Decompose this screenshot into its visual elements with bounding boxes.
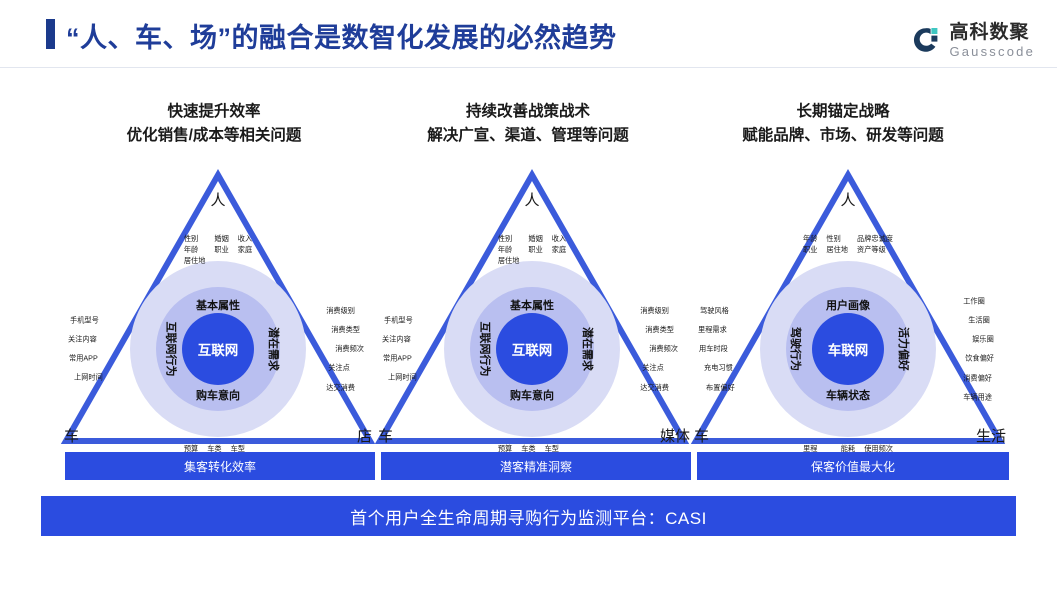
logo-name-cn: 高科数聚 [949, 23, 1035, 42]
rings-2-tags-left: 手机型号 关注内容 常用APP 上网时间 [382, 315, 417, 384]
column-heading-1: 快速提升效率 优化销售/成本等相关问题 [44, 100, 384, 148]
triangle-2-corner-left-label: 车 [378, 425, 393, 446]
tag: 居住地 [498, 255, 520, 266]
column-heading-2: 持续改善战策战术 解决广宣、渠道、管理等问题 [358, 100, 698, 148]
tag: 工作圈 [963, 296, 985, 307]
tag: 收入 [552, 233, 566, 244]
column-heading-3-line1: 长期锚定战略 [673, 100, 1013, 124]
rings-3: 车联网 用户画像 车辆状态 驾驶行为 活力偏好 年龄 性别 品牌忠诚度 职业 居… [760, 261, 936, 437]
outcome-bar-3: 保客价值最大化 [697, 452, 1009, 480]
gausscode-logo-icon [911, 25, 941, 55]
diagram-panel-3: 人 车 生活 车联网 用户画像 车辆状态 驾驶行为 活力偏好 年龄 性别 品牌忠… [688, 165, 1008, 450]
triangle-1-apex-label: 人 [58, 189, 378, 210]
outcome-bar-2: 潜客精准洞察 [381, 452, 691, 480]
tag: 居住地 [184, 255, 206, 266]
column-heading-2-line2: 解决广宣、渠道、管理等问题 [358, 124, 698, 148]
slide-root: “人、车、场”的融合是数智化发展的必然趋势 高科数聚 Gausscode 快速提… [0, 0, 1057, 589]
tag: 年龄 [803, 233, 817, 244]
triangle-1-corner-left-label: 车 [64, 425, 79, 446]
tag: 饮食偏好 [965, 353, 994, 364]
rings-2-section-right: 潜在需求 [580, 327, 596, 371]
tag: 上网时间 [388, 372, 417, 383]
triangle-3-apex-label: 人 [688, 189, 1008, 210]
rings-2-section-bottom: 购车意向 [510, 387, 554, 403]
tag: 职业 [803, 244, 817, 255]
rings-3-tags-top: 年龄 性别 品牌忠诚度 职业 居住地 资产等级 [803, 233, 893, 255]
column-heading-2-line1: 持续改善战策战术 [358, 100, 698, 124]
rings-2: 互联网 基本属性 购车意向 互联网行为 潜在需求 性别 婚姻 收入 年龄 职业 … [444, 261, 620, 437]
rings-2-section-top: 基本属性 [510, 297, 554, 313]
rings-3-section-bottom: 车辆状态 [826, 387, 870, 403]
tag: 充电习惯 [704, 363, 733, 374]
tag: 家庭 [238, 244, 252, 255]
tag: 里程需求 [698, 324, 727, 335]
tag: 婚姻 [528, 233, 542, 244]
tag: 生活圈 [968, 315, 990, 326]
rings-1-section-right: 潜在需求 [266, 327, 282, 371]
tag: 用车时段 [699, 343, 728, 354]
tag: 消费偏好 [963, 372, 992, 383]
tag: 消费级别 [326, 305, 355, 316]
outcome-bar-1: 集客转化效率 [65, 452, 375, 480]
diagram-panel-1: 人 车 店 互联网 基本属性 购车意向 互联网行为 潜在需求 性别 婚姻 收入 … [58, 165, 378, 450]
title-bullet-icon [46, 19, 55, 49]
tag: 消费级别 [640, 305, 669, 316]
rings-3-tags-right: 工作圈 生活圈 娱乐圈 饮食偏好 消费偏好 车辆用途 [963, 296, 994, 403]
tag: 消费类型 [645, 324, 674, 335]
tag: 关注内容 [382, 334, 411, 345]
column-heading-3-line2: 赋能品牌、市场、研发等问题 [673, 124, 1013, 148]
tag: 性别 [498, 233, 520, 244]
tag: 性别 [826, 233, 848, 244]
triangle-2-corner-right-label: 媒体 [660, 425, 690, 446]
rings-1-section-top: 基本属性 [196, 297, 240, 313]
tag: 手机型号 [70, 315, 99, 326]
triangle-3-corner-right-label: 生活 [976, 425, 1006, 446]
column-heading-1-line1: 快速提升效率 [44, 100, 384, 124]
tag: 居住地 [826, 244, 848, 255]
tag: 车辆用途 [963, 391, 992, 402]
rings-3-tags-left: 驾驶风格 里程需求 用车时段 充电习惯 布置偏好 [698, 305, 735, 393]
triangle-1-corner-right-label: 店 [357, 425, 372, 446]
rings-3-section-right: 活力偏好 [896, 327, 912, 371]
platform-banner: 首个用户全生命周期寻购行为监测平台：CASI [41, 496, 1016, 536]
rings-2-core-label: 互联网 [512, 339, 553, 359]
tag: 收入 [238, 233, 252, 244]
tag: 常用APP [383, 353, 412, 364]
rings-1-tags-left: 手机型号 关注内容 常用APP 上网时间 [68, 315, 103, 384]
rings-3-section-top: 用户画像 [826, 297, 870, 313]
rings-1-core-label: 互联网 [198, 339, 239, 359]
tag: 达交消费 [640, 382, 669, 393]
tag: 职业 [528, 244, 542, 255]
tag: 年龄 [184, 244, 206, 255]
rings-2-tags-right: 消费级别 消费类型 消费频次 关注点 达交消费 [640, 305, 678, 393]
column-heading-3: 长期锚定战略 赋能品牌、市场、研发等问题 [673, 100, 1013, 148]
slide-header: “人、车、场”的融合是数智化发展的必然趋势 高科数聚 Gausscode [0, 0, 1057, 68]
tag: 消费类型 [331, 324, 360, 335]
rings-3-section-left: 驾驶行为 [788, 327, 804, 371]
rings-1-tags-top: 性别 婚姻 收入 年龄 职业 家庭 居住地 [184, 233, 252, 266]
rings-1-section-left: 互联网行为 [164, 322, 180, 377]
column-heading-1-line2: 优化销售/成本等相关问题 [44, 124, 384, 148]
logo-name-en: Gausscode [949, 45, 1035, 58]
tag: 年龄 [498, 244, 520, 255]
tag: 品牌忠诚度 [857, 233, 893, 244]
rings-1-section-bottom: 购车意向 [196, 387, 240, 403]
tag: 家庭 [552, 244, 566, 255]
triangle-3-corner-left-label: 车 [694, 425, 709, 446]
tag: 驾驶风格 [700, 305, 729, 316]
header-divider [0, 67, 1057, 68]
rings-2-tags-top: 性别 婚姻 收入 年龄 职业 家庭 居住地 [498, 233, 566, 266]
tag: 娱乐圈 [972, 334, 994, 345]
rings-1: 互联网 基本属性 购车意向 互联网行为 潜在需求 性别 婚姻 收入 年龄 职业 … [130, 261, 306, 437]
tag: 常用APP [69, 353, 98, 364]
triangle-2-apex-label: 人 [372, 189, 692, 210]
page-title: “人、车、场”的融合是数智化发展的必然趋势 [66, 16, 617, 55]
diagram-panel-2: 人 车 媒体 互联网 基本属性 购车意向 互联网行为 潜在需求 性别 婚姻 收入… [372, 165, 692, 450]
rings-1-tags-right: 消费级别 消费类型 消费频次 关注点 达交消费 [326, 305, 364, 393]
tag: 消费频次 [335, 343, 364, 354]
tag: 婚姻 [214, 233, 228, 244]
tag: 手机型号 [384, 315, 413, 326]
tag: 资产等级 [857, 244, 893, 255]
tag: 达交消费 [326, 382, 355, 393]
tag: 上网时间 [74, 372, 103, 383]
tag: 关注点 [642, 363, 664, 374]
rings-3-core-label: 车联网 [828, 339, 869, 359]
tag: 关注点 [328, 363, 350, 374]
tag: 职业 [214, 244, 228, 255]
rings-2-section-left: 互联网行为 [478, 322, 494, 377]
tag: 关注内容 [68, 334, 97, 345]
tag: 消费频次 [649, 343, 678, 354]
brand-logo: 高科数聚 Gausscode [911, 19, 1035, 61]
tag: 性别 [184, 233, 206, 244]
tag: 布置偏好 [706, 382, 735, 393]
